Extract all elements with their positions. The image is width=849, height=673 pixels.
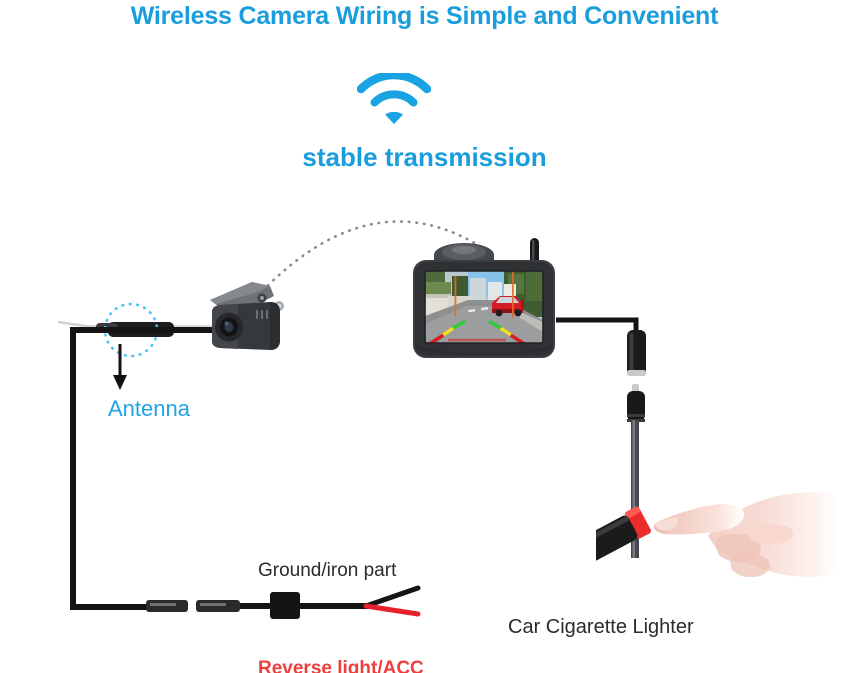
reverse-acc-wire — [366, 606, 418, 614]
monitor-screen — [425, 271, 543, 343]
antenna-highlight-circle — [105, 304, 157, 356]
antenna-rod — [86, 325, 218, 332]
arrow-down-icon — [113, 344, 127, 390]
cable-connector-a — [146, 600, 188, 612]
ground-wire — [366, 588, 418, 606]
camera-power-cable — [73, 330, 250, 607]
antenna-label: Antenna — [108, 396, 190, 421]
monitor-power-cable — [556, 320, 636, 336]
wireless-monitor — [408, 236, 560, 362]
cable-connector-b — [196, 600, 240, 612]
diagram-canvas: Wireless Camera Wiring is Simple and Con… — [0, 0, 849, 673]
antenna-connector — [108, 322, 174, 337]
reverse-acc-label: Reverse light/ACC (DC12V-24V) — [258, 614, 424, 673]
rear-view-camera — [204, 276, 296, 358]
pointing-hand — [648, 478, 838, 598]
wifi-signal-icon — [357, 73, 431, 125]
subtitle-stable-transmission: stable transmission — [0, 142, 849, 173]
barrel-jack-female — [627, 330, 646, 376]
reverse-acc-label-line1: Reverse light/ACC — [258, 658, 424, 673]
car-lighter-label: Car Cigarette Lighter — [508, 616, 694, 639]
ground-label: Ground/iron part — [258, 560, 396, 582]
page-title: Wireless Camera Wiring is Simple and Con… — [0, 2, 849, 31]
